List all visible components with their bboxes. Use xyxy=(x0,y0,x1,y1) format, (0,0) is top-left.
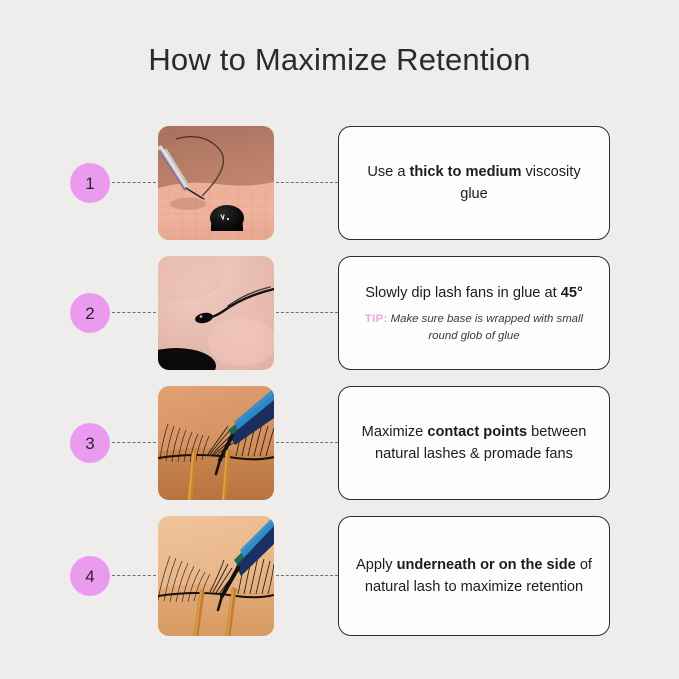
tip-text: Make sure base is wrapped with small rou… xyxy=(391,313,583,342)
connector-dash-right-2 xyxy=(276,312,338,313)
step-row: 1 xyxy=(0,126,679,240)
infographic-root: How to Maximize Retention 1 xyxy=(0,0,679,679)
lash-fan-dipped-in-glue-photo xyxy=(158,256,274,370)
connector-dash-left-2 xyxy=(112,312,156,313)
contact-points-lash-extension-photo xyxy=(158,386,274,500)
connector-dash-left-4 xyxy=(112,575,156,576)
steps-list: 1 xyxy=(0,126,679,636)
step-row: 4 xyxy=(0,516,679,636)
page-title: How to Maximize Retention xyxy=(0,42,679,78)
step-row: 3 xyxy=(0,386,679,500)
step-card-1: Use a thick to medium viscosity glue xyxy=(338,126,610,240)
step-card-2: Slowly dip lash fans in glue at 45° TIP:… xyxy=(338,256,610,370)
step-tip-2: TIP:Make sure base is wrapped with small… xyxy=(355,311,593,344)
underneath-side-placement-lash-photo xyxy=(158,516,274,636)
step-image-1 xyxy=(158,126,274,240)
step-number-badge-4: 4 xyxy=(70,556,110,596)
step-image-4 xyxy=(158,516,274,636)
step-row: 2 xyxy=(0,256,679,370)
connector-dash-right-1 xyxy=(276,182,338,183)
step-number-badge-3: 3 xyxy=(70,423,110,463)
step-number-badge-1: 1 xyxy=(70,163,110,203)
step-text-2: Slowly dip lash fans in glue at 45° xyxy=(365,282,583,304)
tweezers-lash-glue-drop-photo xyxy=(158,126,274,240)
step-text-3: Maximize contact points between natural … xyxy=(355,421,593,465)
step-image-3 xyxy=(158,386,274,500)
step-image-2 xyxy=(158,256,274,370)
tip-label: TIP: xyxy=(365,313,388,325)
step-number-badge-2: 2 xyxy=(70,293,110,333)
connector-dash-left-1 xyxy=(112,182,156,183)
step-card-4: Apply underneath or on the side of natur… xyxy=(338,516,610,636)
step-card-3: Maximize contact points between natural … xyxy=(338,386,610,500)
step-text-1: Use a thick to medium viscosity glue xyxy=(355,161,593,205)
connector-dash-right-3 xyxy=(276,442,338,443)
connector-dash-left-3 xyxy=(112,442,156,443)
step-text-4: Apply underneath or on the side of natur… xyxy=(355,554,593,598)
connector-dash-right-4 xyxy=(276,575,338,576)
